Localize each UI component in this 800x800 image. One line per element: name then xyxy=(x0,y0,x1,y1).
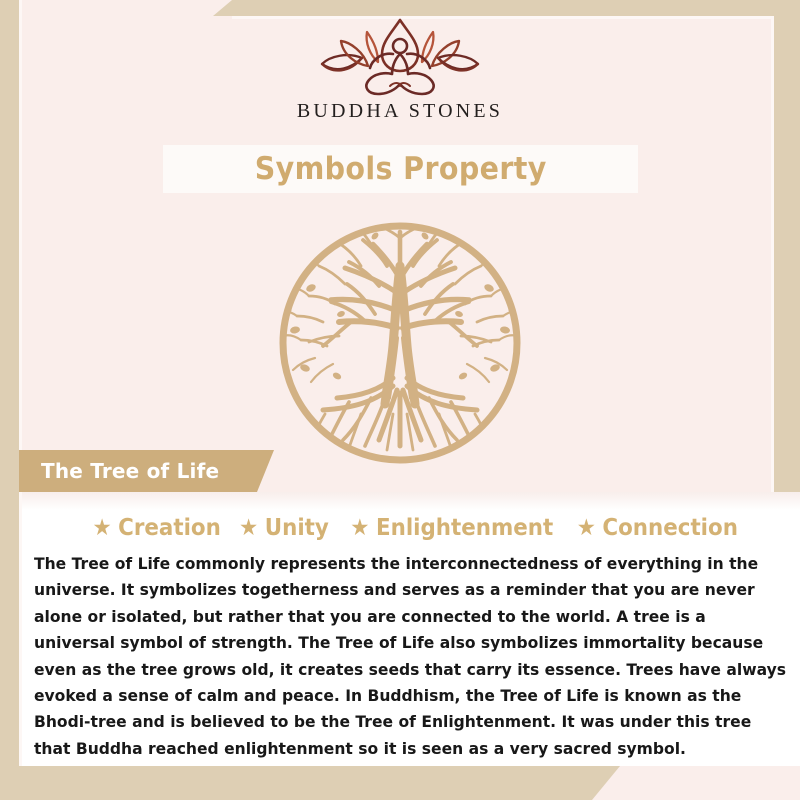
star-icon: ★ xyxy=(350,517,369,540)
star-icon: ★ xyxy=(576,517,595,540)
description-text: The Tree of Life commonly represents the… xyxy=(34,551,788,762)
keyword-label: Creation xyxy=(118,515,221,541)
keyword-label: Unity xyxy=(265,515,329,541)
page-title: Symbols Property xyxy=(254,151,546,187)
star-icon: ★ xyxy=(239,517,258,540)
keyword-item: ★ Connection xyxy=(567,515,738,541)
keyword-item: ★ Enlightenment xyxy=(340,515,552,541)
star-icon: ★ xyxy=(92,517,111,540)
frame-bottom-border xyxy=(0,766,620,800)
keyword-list: ★ Creation ★ Unity ★ Enlightenment ★ Con… xyxy=(22,515,800,541)
brand-name: BUDDHA STONES xyxy=(297,100,503,123)
symbol-name-label: The Tree of Life xyxy=(19,459,219,483)
symbols-property-poster: BUDDHA STONES Symbols Property xyxy=(0,0,800,800)
description-panel: ★ Creation ★ Unity ★ Enlightenment ★ Con… xyxy=(22,492,800,766)
keyword-label: Connection xyxy=(602,515,738,541)
brand-header: BUDDHA STONES xyxy=(0,0,800,140)
keyword-label: Enlightenment xyxy=(375,515,552,541)
lotus-meditation-icon xyxy=(310,16,490,98)
keyword-item: ★ Unity xyxy=(230,515,329,541)
keyword-item: ★ Creation xyxy=(83,515,221,541)
tree-of-life-icon xyxy=(275,218,525,468)
symbol-name-ribbon: The Tree of Life xyxy=(19,450,274,492)
title-banner: Symbols Property xyxy=(163,145,638,193)
